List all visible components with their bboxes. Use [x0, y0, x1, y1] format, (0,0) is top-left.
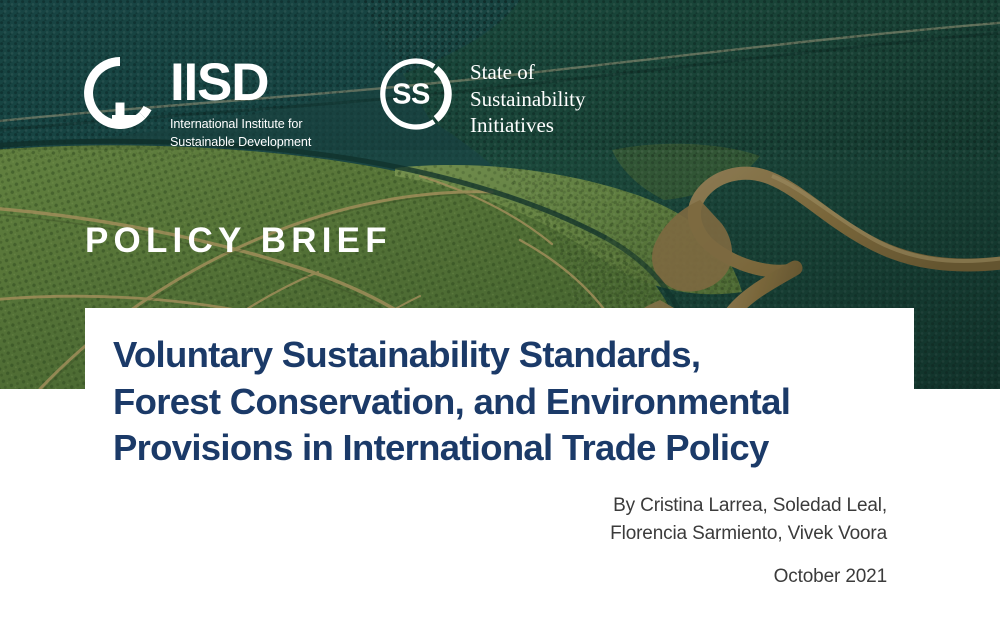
iisd-wordmark-group: IISD International Institute for Sustain…: [170, 55, 311, 152]
policy-brief-kicker: POLICY BRIEF: [85, 221, 392, 261]
iisd-logo: IISD International Institute for Sustain…: [84, 55, 374, 152]
byline-block: By Cristina Larrea, Soledad Leal, Floren…: [367, 492, 887, 588]
logo-bar: IISD International Institute for Sustain…: [84, 55, 586, 152]
ssi-circle-monogram-icon: SS: [378, 55, 456, 133]
iisd-broken-circle-icon: [84, 57, 156, 129]
author-list: By Cristina Larrea, Soledad Leal, Floren…: [367, 492, 887, 547]
svg-text:SS: SS: [392, 79, 430, 111]
publication-date: October 2021: [367, 566, 887, 588]
ssi-logo: SS State of Sustainability Initiatives: [378, 55, 586, 139]
iisd-wordmark: IISD: [170, 57, 311, 109]
cover-page: IISD International Institute for Sustain…: [0, 0, 1000, 620]
ssi-wordmark: State of Sustainability Initiatives: [470, 55, 586, 139]
page-title: Voluntary Sustainability Standards, Fore…: [113, 332, 913, 472]
iisd-tagline: International Institute for Sustainable …: [170, 116, 311, 152]
